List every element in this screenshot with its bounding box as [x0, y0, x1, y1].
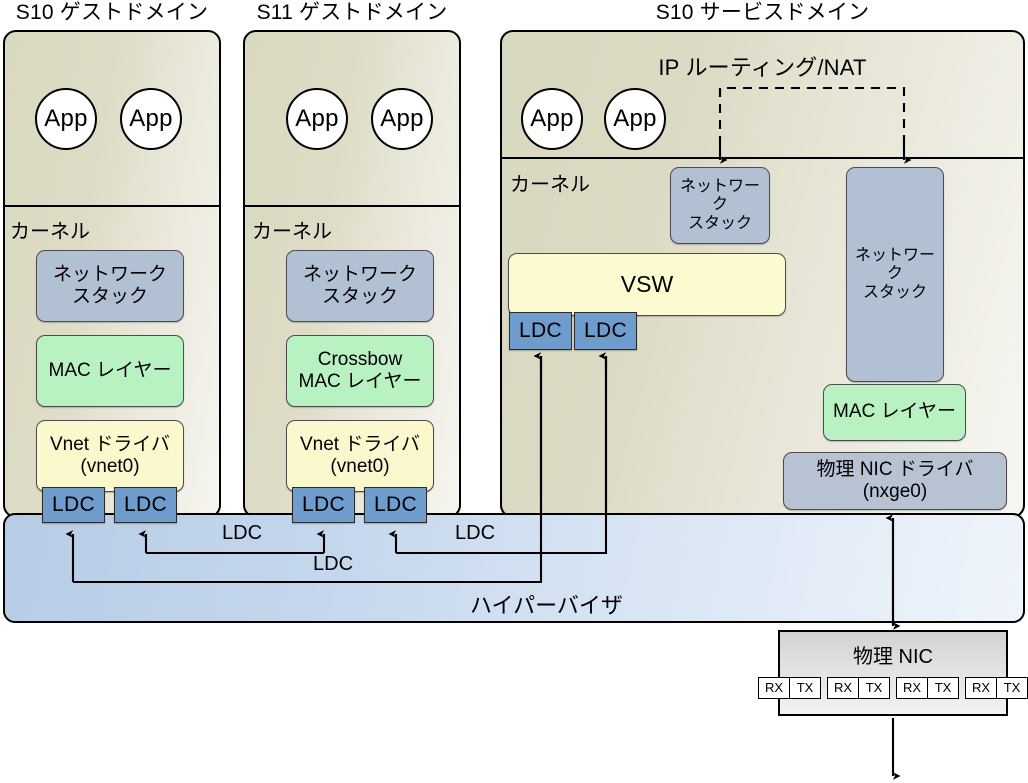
s11-app-1: App: [286, 88, 348, 150]
ldc-label: LDC: [584, 319, 627, 343]
s10-ldc-2: LDC: [114, 487, 177, 523]
app-label: App: [613, 105, 657, 133]
s10-kernel-label: カーネル: [10, 215, 90, 244]
service-inner-network-stack: ネットワーク スタック: [670, 167, 770, 244]
hypervisor-ldc-label-1: LDC: [222, 522, 262, 545]
s10-vnet-driver: Vnet ドライバ (vnet0): [36, 420, 184, 492]
title-s10-guest-domain: S10 ゲストドメイン: [3, 0, 221, 26]
vsw-ldc-1: LDC: [509, 312, 572, 350]
s11-vnet-driver: Vnet ドライバ (vnet0): [286, 420, 434, 492]
s11-network-stack-line1: ネットワーク: [303, 264, 417, 286]
s10-network-stack-line2: スタック: [53, 286, 167, 308]
title-service-domain: S10 サービスドメイン: [500, 0, 1025, 26]
app-label: App: [295, 105, 339, 133]
s11-ldc-1: LDC: [292, 487, 355, 523]
s11-crossbow-label: Crossbow: [299, 349, 422, 371]
s11-vnet-driver-line2: (vnet0): [300, 456, 420, 478]
service-app-2: App: [604, 88, 666, 150]
service-inner-stack-line1: ネットワーク: [675, 178, 765, 215]
nic-driver-line1: 物理 NIC ドライバ: [817, 459, 974, 481]
hypervisor-label: ハイパーバイザ: [470, 588, 623, 620]
service-kernel-divider: [500, 157, 1025, 159]
ldc-label: LDC: [374, 493, 417, 517]
service-outer-network-stack: ネットワーク スタック: [846, 167, 944, 382]
queue-rx-label: RX: [828, 678, 859, 698]
service-mac-layer: MAC レイヤー: [823, 384, 966, 441]
nic-queue-0: RX TX: [758, 677, 821, 699]
s10-kernel-divider: [3, 205, 221, 207]
queue-rx-label: RX: [966, 678, 997, 698]
s10-network-stack-line1: ネットワーク: [53, 264, 167, 286]
service-app-1: App: [521, 88, 583, 150]
s10-network-stack: ネットワーク スタック: [36, 250, 184, 322]
queue-tx-label: TX: [859, 678, 889, 698]
physical-nic-title: 物理 NIC: [780, 640, 1006, 669]
queue-tx-label: TX: [997, 678, 1027, 698]
ip-routing-nat-label: IP ルーティング/NAT: [600, 55, 925, 81]
s10-vnet-driver-line1: Vnet ドライバ: [50, 434, 170, 456]
app-label: App: [44, 105, 88, 133]
service-mac-layer-label: MAC レイヤー: [829, 401, 960, 423]
queue-rx-label: RX: [759, 678, 790, 698]
app-label: App: [530, 105, 574, 133]
s10-mac-layer-label: MAC レイヤー: [49, 360, 172, 382]
physical-nic-driver: 物理 NIC ドライバ (nxge0): [783, 452, 1007, 510]
queue-tx-label: TX: [928, 678, 958, 698]
s11-ldc-2: LDC: [364, 487, 427, 523]
nic-queue-row: RX TX RX TX RX TX RX TX: [780, 677, 1006, 699]
ldc-label: LDC: [519, 319, 562, 343]
service-outer-stack-line2: スタック: [851, 284, 939, 303]
nic-queue-1: RX TX: [827, 677, 890, 699]
s10-ldc-1: LDC: [42, 487, 105, 523]
app-label: App: [380, 105, 424, 133]
diagram-canvas: S10 ゲストドメイン S11 ゲストドメイン S10 サービスドメイン App…: [0, 0, 1028, 783]
nic-driver-line2: (nxge0): [817, 481, 974, 503]
s10-app-2: App: [120, 88, 182, 150]
s11-mac-layer-label: MAC レイヤー: [299, 371, 422, 393]
s11-app-2: App: [371, 88, 433, 150]
service-inner-stack-line2: スタック: [675, 215, 765, 234]
app-label: App: [129, 105, 173, 133]
ldc-label: LDC: [302, 493, 345, 517]
s10-app-1: App: [35, 88, 97, 150]
nic-queue-2: RX TX: [896, 677, 959, 699]
queue-tx-label: TX: [790, 678, 820, 698]
service-outer-stack-line1: ネットワーク: [851, 247, 939, 284]
ldc-label: LDC: [124, 493, 167, 517]
s10-vnet-driver-line2: (vnet0): [50, 456, 170, 478]
vsw-label: VSW: [617, 271, 677, 298]
queue-rx-label: RX: [897, 678, 928, 698]
nic-queue-3: RX TX: [965, 677, 1028, 699]
s11-crossbow-mac-layer: Crossbow MAC レイヤー: [286, 335, 434, 407]
s11-kernel-divider: [243, 205, 461, 207]
vsw-ldc-2: LDC: [574, 312, 637, 350]
s11-vnet-driver-line1: Vnet ドライバ: [300, 434, 420, 456]
physical-nic-box: 物理 NIC RX TX RX TX RX TX RX TX: [778, 630, 1008, 716]
title-s11-guest-domain: S11 ゲストドメイン: [243, 0, 461, 26]
ldc-label: LDC: [52, 493, 95, 517]
s11-network-stack: ネットワーク スタック: [286, 250, 434, 322]
hypervisor-ldc-label-3: LDC: [313, 553, 353, 576]
vsw-box: VSW: [508, 253, 786, 316]
service-kernel-label: カーネル: [510, 168, 590, 197]
s11-kernel-label: カーネル: [252, 215, 332, 244]
s10-mac-layer: MAC レイヤー: [36, 335, 184, 407]
hypervisor-ldc-label-2: LDC: [455, 522, 495, 545]
s11-network-stack-line2: スタック: [303, 286, 417, 308]
